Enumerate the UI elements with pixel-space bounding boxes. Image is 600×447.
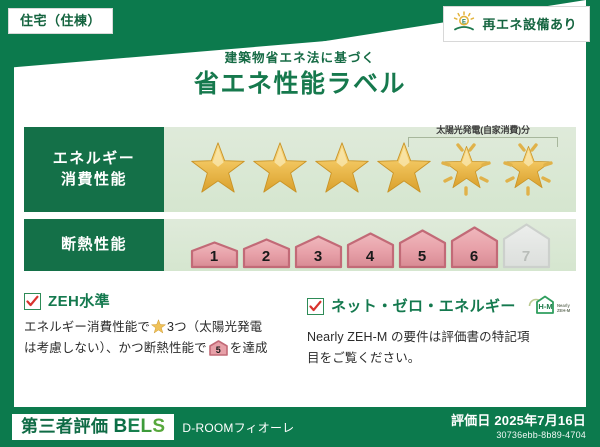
insulation-grade-4: 4 bbox=[346, 232, 395, 269]
zeh-m-logo-caption2: ZEH-M bbox=[557, 308, 571, 313]
insulation-grade-number: 6 bbox=[450, 249, 499, 264]
insulation-performance-row: 断熱性能 1 2 bbox=[24, 219, 576, 271]
star-rating-item bbox=[250, 137, 310, 199]
svg-text:E: E bbox=[462, 19, 466, 25]
label-main-title: 省エネ性能ラベル bbox=[0, 72, 600, 97]
energy-performance-row-body: 太陽光発電(自家消費)分 bbox=[164, 127, 576, 212]
insulation-grade-3: 3 bbox=[294, 235, 343, 269]
star-rating-item bbox=[188, 137, 248, 199]
star-rating-item-solar bbox=[436, 137, 496, 199]
zeh-desc-part1: エネルギー消費性能で bbox=[24, 320, 150, 334]
bels-letter-e: E bbox=[128, 416, 141, 437]
insulation-grade-number: 4 bbox=[346, 249, 395, 264]
inline-house-number: 5 bbox=[209, 346, 228, 355]
building-name: D-ROOMフィオーレ bbox=[182, 419, 294, 436]
solar-sun-icon: E bbox=[452, 11, 476, 37]
bels-japanese-label: 第三者評価 bbox=[21, 418, 109, 435]
evaluation-id: 30736ebb-8b89-4704 bbox=[451, 430, 586, 440]
criteria-section: ZEH水準 エネルギー消費性能で3つ（太陽光発電 は考慮しない）、かつ断熱性能で… bbox=[24, 293, 576, 368]
zeh-standard-description: エネルギー消費性能で3つ（太陽光発電 は考慮しない）、かつ断熱性能で5を達成 bbox=[24, 317, 293, 358]
renewable-equipment-badge: E 再エネ設備あり bbox=[443, 6, 590, 42]
energy-performance-row-label: エネルギー 消費性能 bbox=[24, 127, 164, 212]
label-footer: 第三者評価 BELS D-ROOMフィオーレ 評価日 2025年7月16日 30… bbox=[0, 407, 600, 447]
zeh-desc-stars: 3つ（太陽光発電 bbox=[167, 320, 262, 334]
zeh-desc-part3: を達成 bbox=[230, 341, 268, 355]
insulation-grade-number: 7 bbox=[502, 249, 551, 264]
insulation-row-label: 断熱性能 bbox=[24, 219, 164, 271]
insulation-grade-1: 1 bbox=[190, 241, 239, 269]
zeh-m-logo-text: H-M bbox=[538, 302, 552, 311]
bels-third-party-badge: 第三者評価 BELS bbox=[12, 414, 174, 440]
rating-rows: エネルギー 消費性能 太陽光発電(自家消費)分 bbox=[24, 127, 576, 278]
insulation-grade-number: 2 bbox=[242, 249, 291, 264]
zeh-m-house-logo: H-M Nearly ZEH-M bbox=[528, 293, 574, 320]
star-rating-item bbox=[374, 137, 434, 199]
insulation-grade-number: 1 bbox=[190, 249, 239, 264]
energy-label-line1: エネルギー bbox=[53, 149, 136, 169]
net-zero-energy-description: Nearly ZEH-M の要件は評価書の特記項 目をご覧ください。 bbox=[307, 327, 576, 368]
inline-star-icon bbox=[151, 319, 166, 334]
bels-letter-b: B bbox=[114, 416, 128, 437]
energy-star-rating bbox=[182, 137, 558, 203]
star-rating-item-solar bbox=[498, 137, 558, 199]
zeh-desc-part2: は考慮しない）、かつ断熱性能で bbox=[24, 341, 207, 355]
insulation-grade-5: 5 bbox=[398, 229, 447, 269]
insulation-grade-number: 3 bbox=[294, 249, 343, 264]
insulation-grade-scale: 1 2 3 4 bbox=[190, 223, 551, 271]
insulation-grade-number: 5 bbox=[398, 249, 447, 264]
renewable-badge-label: 再エネ設備あり bbox=[482, 18, 577, 31]
insulation-grade-2: 2 bbox=[242, 238, 291, 269]
criterion-zeh-header: ZEH水準 bbox=[24, 293, 293, 310]
criterion-net-zero-energy: ネット・ゼロ・エネルギー H-M Nearly ZEH-M Nearly ZEH… bbox=[307, 293, 576, 368]
energy-label-line2: 消費性能 bbox=[61, 170, 127, 190]
insulation-label-text: 断熱性能 bbox=[61, 235, 127, 255]
nze-desc-part2: 目をご覧ください。 bbox=[307, 351, 420, 365]
bels-letter-l: L bbox=[141, 416, 153, 437]
label-subtitle: 建築物省エネ法に基づく bbox=[0, 52, 600, 65]
net-zero-energy-checkbox[interactable] bbox=[307, 298, 324, 315]
zeh-standard-checkbox[interactable] bbox=[24, 293, 41, 310]
house-type-badge: 住宅（住棟） bbox=[8, 8, 113, 34]
criterion-zeh-standard: ZEH水準 エネルギー消費性能で3つ（太陽光発電 は考慮しない）、かつ断熱性能で… bbox=[24, 293, 293, 368]
house-type-badge-label: 住宅（住棟） bbox=[20, 13, 101, 28]
net-zero-energy-title: ネット・ゼロ・エネルギー bbox=[331, 299, 516, 314]
bels-letter-s: S bbox=[152, 416, 165, 437]
bels-wordmark: BELS bbox=[114, 417, 166, 436]
check-icon bbox=[26, 295, 39, 308]
zeh-standard-title: ZEH水準 bbox=[48, 294, 110, 309]
label-title-block: 建築物省エネ法に基づく 省エネ性能ラベル bbox=[0, 52, 600, 97]
check-icon bbox=[309, 300, 322, 313]
insulation-row-body: 1 2 3 4 bbox=[164, 219, 576, 271]
evaluation-date: 評価日 2025年7月16日 bbox=[451, 414, 586, 428]
star-rating-item bbox=[312, 137, 372, 199]
criterion-nze-header: ネット・ゼロ・エネルギー H-M Nearly ZEH-M bbox=[307, 293, 576, 320]
nze-desc-part1: Nearly ZEH-M の要件は評価書の特記項 bbox=[307, 330, 530, 344]
energy-performance-label: 住宅（住棟） E 再エネ設備あり 建築物省エネ法に基づく 省エネ性能ラベル bbox=[0, 0, 600, 447]
energy-performance-row: エネルギー 消費性能 太陽光発電(自家消費)分 bbox=[24, 127, 576, 212]
insulation-grade-6: 6 bbox=[450, 226, 499, 269]
inline-house-badge-icon: 5 bbox=[209, 340, 228, 356]
solar-portion-label: 太陽光発電(自家消費)分 bbox=[408, 126, 558, 136]
insulation-grade-7: 7 bbox=[502, 223, 551, 269]
evaluation-info: 評価日 2025年7月16日 30736ebb-8b89-4704 bbox=[451, 414, 586, 440]
